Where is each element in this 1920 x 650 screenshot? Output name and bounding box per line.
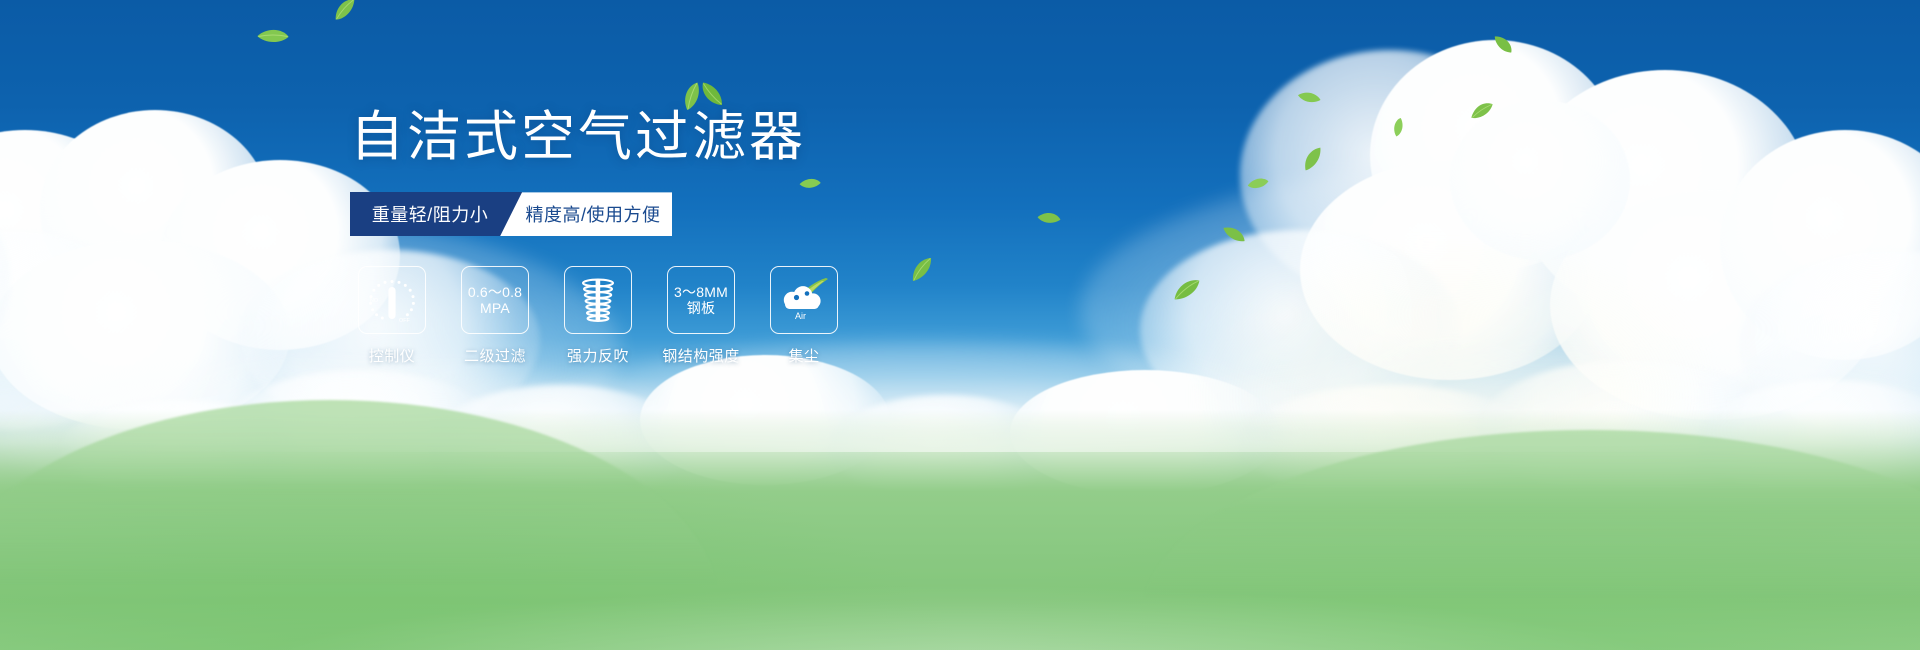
feature-label: 集尘 [788,345,819,366]
grass-highlight [0,500,1920,650]
feature-item: NO OFF 控制仪 [350,266,434,366]
product-banner: 自洁式空气过滤器 重量轻/阻力小 精度高/使用方便 [0,0,1920,650]
page-title: 自洁式空气过滤器 [350,108,1070,166]
grass-field [0,410,1920,650]
feature-label: 强力反吹 [567,345,629,366]
pressure-range-text: 0.6～0.8 [468,284,522,301]
banner-content: 自洁式空气过滤器 重量轻/阻力小 精度高/使用方便 [350,108,1070,366]
feature-item: 0.6～0.8 MPA 二级过滤 [453,266,537,366]
plate-thickness-text: 3～8MM [674,284,728,301]
cloud-air-icon: Air [776,277,832,323]
pressure-unit-text: MPA [480,300,510,317]
gauge-label-off: OFF [399,318,410,324]
plate-material-text: 钢板 [687,300,715,317]
tag-label: 精度高/使用方便 [525,201,660,227]
floating-leaf-icon [256,24,290,49]
coil-spring-icon [573,275,623,325]
feature-tag-bar: 重量轻/阻力小 精度高/使用方便 [350,192,672,236]
floating-leaf-icon [1390,117,1409,138]
gauge-label-no: NO [370,298,378,304]
feature-icon-box: 3～8MM 钢板 [667,266,735,334]
feature-item: 强力反吹 [556,266,640,366]
feature-item: Air 集尘 [762,266,846,366]
title-leaf-icon [699,78,724,110]
floating-leaf-icon [330,0,360,22]
feature-icon-box [564,266,632,334]
floating-leaf-icon [1296,87,1321,108]
floating-leaf-icon [1469,101,1496,120]
tag-precision-convenience: 精度高/使用方便 [500,192,672,236]
gauge-dial-icon: NO OFF [366,275,418,325]
floating-leaf-icon [1492,32,1514,58]
feature-item: 3～8MM 钢板 钢结构强度 [659,266,743,366]
floating-leaf-icon [1299,145,1328,172]
tag-label: 重量轻/阻力小 [372,201,489,227]
feature-label: 钢结构强度 [662,345,740,366]
feature-icon-box: 0.6～0.8 MPA [461,266,529,334]
feature-icon-box: Air [770,266,838,334]
tag-weight-resistance: 重量轻/阻力小 [350,192,522,236]
feature-icon-box: NO OFF [358,266,426,334]
feature-label: 二级过滤 [464,345,526,366]
air-text: Air [795,311,806,321]
feature-icon-row: NO OFF 控制仪 0.6～0.8 MPA 二级过滤 [350,266,1070,366]
feature-label: 控制仪 [369,345,416,366]
floating-leaf-icon [1247,177,1268,192]
